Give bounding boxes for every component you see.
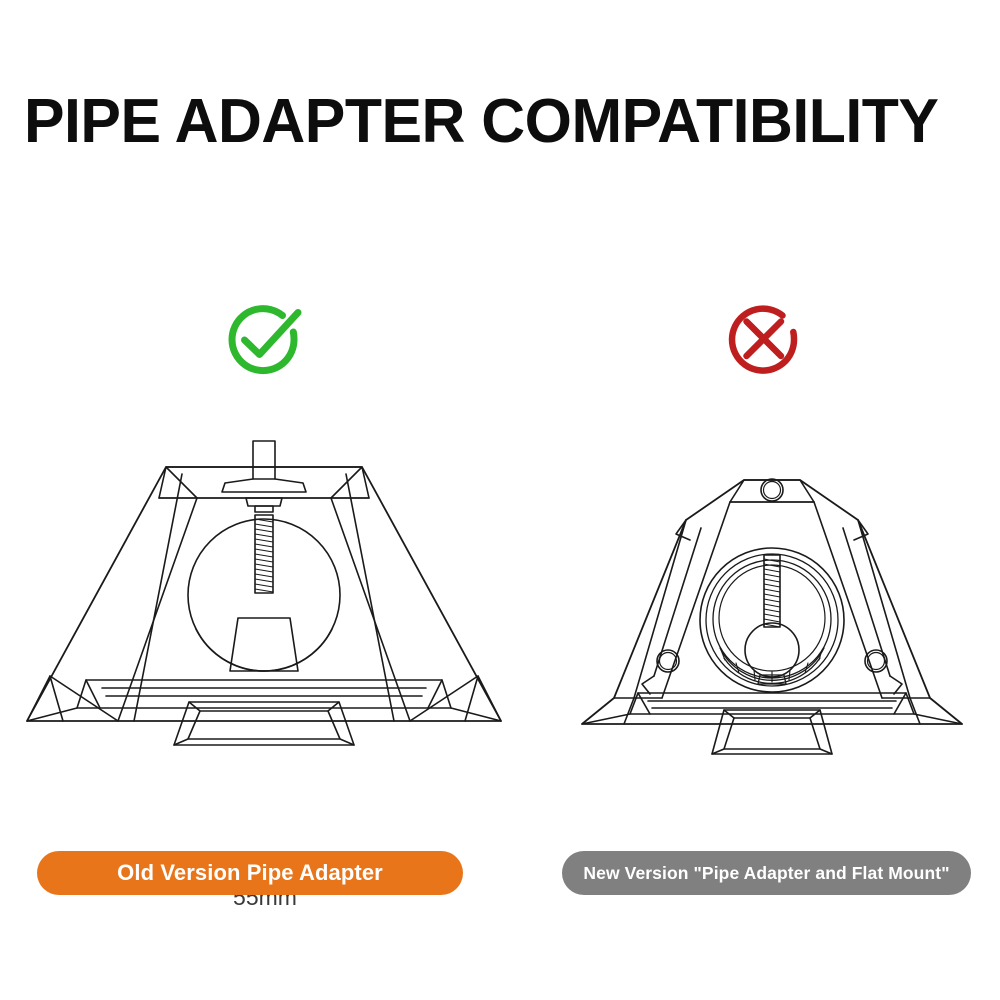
old-version-pipe-adapter-drawing [14,440,514,780]
new-version-label-pill: New Version "Pipe Adapter and Flat Mount… [562,851,971,895]
x-circle-icon [720,295,806,381]
page-title: PIPE ADAPTER COMPATIBILITY [24,88,957,156]
new-version-pipe-adapter-flat-mount-drawing [558,462,986,774]
check-circle-icon [220,295,306,381]
old-version-label-pill: Old Version Pipe Adapter [37,851,463,895]
product-comparison-page: PIPE ADAPTER COMPATIBILITY [0,0,1000,1000]
